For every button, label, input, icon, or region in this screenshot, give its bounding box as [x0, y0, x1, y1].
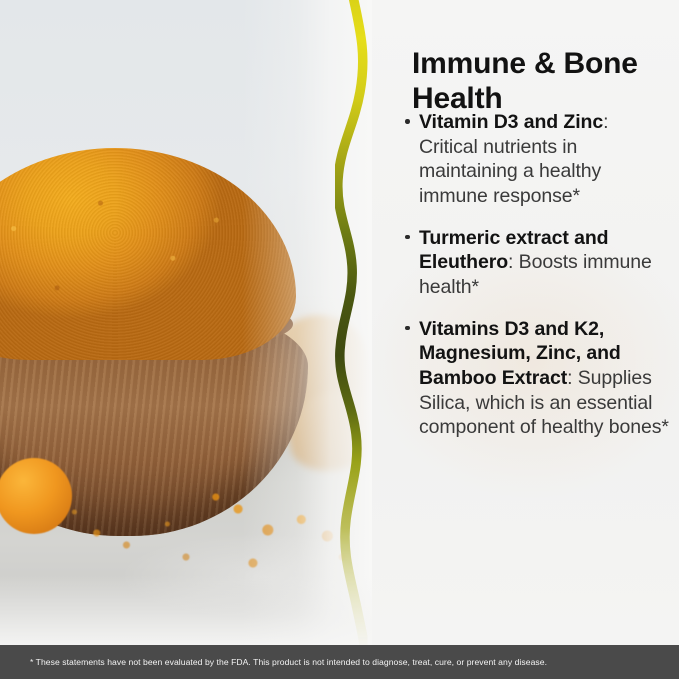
benefit-term: Vitamin D3 and Zinc [419, 111, 603, 133]
bullet-dot-icon [405, 119, 410, 124]
fda-disclaimer-text: * These statements have not been evaluat… [0, 657, 547, 667]
photo-right-fade [242, 0, 372, 645]
list-item: Vitamins D3 and K2, Magnesium, Zinc, and… [402, 317, 670, 440]
benefits-list: Vitamin D3 and Zinc: Critical nutrients … [402, 110, 670, 440]
turmeric-photo [0, 0, 372, 645]
bullet-dot-icon [405, 235, 410, 240]
product-benefits-infographic: Immune & Bone Health Vitamin D3 and Zinc… [0, 0, 679, 679]
photo-bottom-fade [0, 575, 372, 645]
bullet-dot-icon [405, 326, 410, 331]
footer-disclaimer-bar: * These statements have not been evaluat… [0, 645, 679, 679]
list-item: Turmeric extract and Eleuthero: Boosts i… [402, 226, 670, 300]
page-title: Immune & Bone Health [412, 46, 662, 116]
list-item: Vitamin D3 and Zinc: Critical nutrients … [402, 110, 670, 209]
